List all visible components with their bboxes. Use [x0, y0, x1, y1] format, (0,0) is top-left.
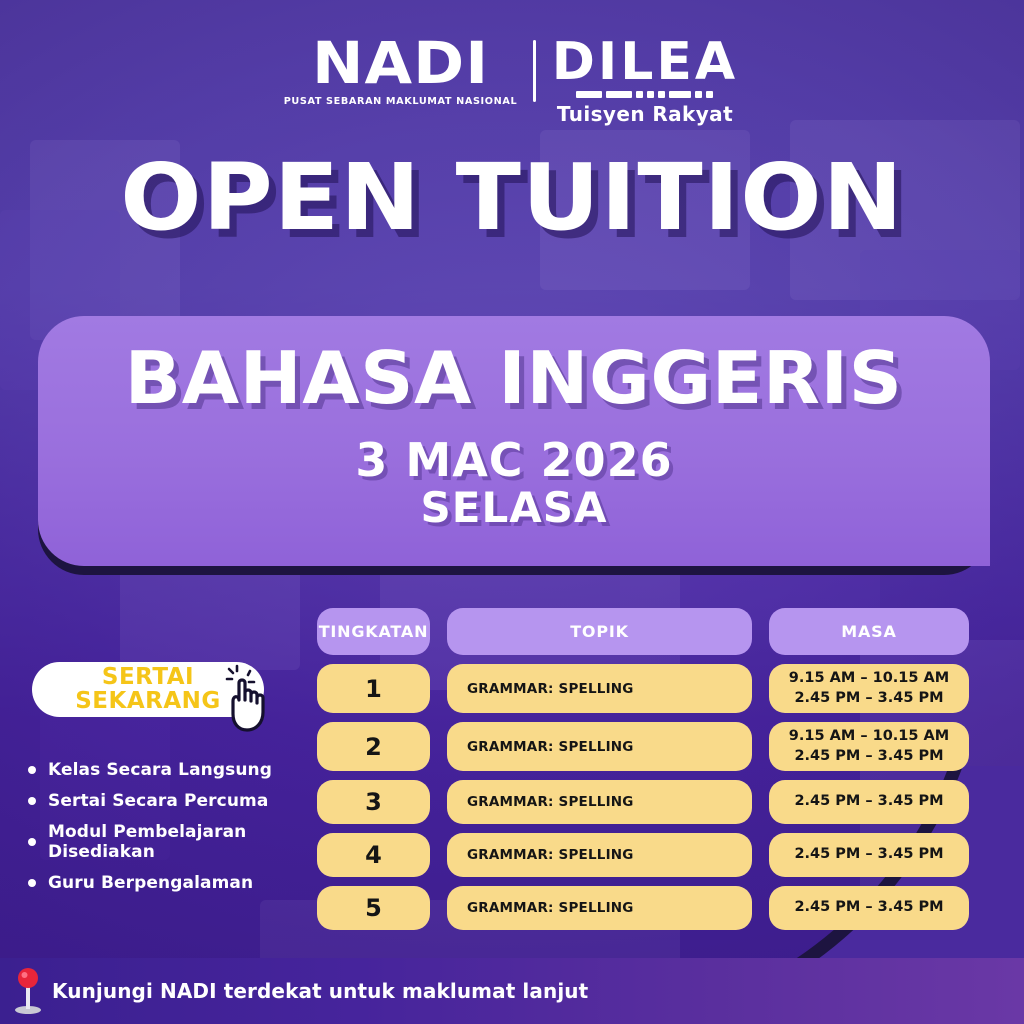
footer-bar: Kunjungi NADI terdekat untuk maklumat la…	[0, 958, 1024, 1024]
table-row: 2 GRAMMAR: SPELLING 9.15 AM – 10.15 AM 2…	[317, 722, 975, 771]
cell-topik: GRAMMAR: SPELLING	[447, 886, 752, 930]
poster-canvas: NADI PUSAT SEBARAN MAKLUMAT NASIONAL DIL…	[0, 0, 1024, 1024]
location-pin-icon	[8, 968, 48, 1014]
page-title: OPEN TUITION	[0, 152, 1024, 244]
bullet-dot-icon	[28, 766, 36, 774]
cell-masa: 9.15 AM – 10.15 AM 2.45 PM – 3.45 PM	[769, 664, 969, 713]
cell-masa-slot-1: 9.15 AM – 10.15 AM	[789, 669, 949, 689]
dilea-tagline: Tuisyen Rakyat	[557, 102, 733, 126]
join-now-line1: SERTAI	[75, 666, 221, 689]
features-list: Kelas Secara Langsung Sertai Secara Perc…	[28, 760, 348, 904]
bullet-dot-icon	[28, 838, 36, 846]
cell-masa: 2.45 PM – 3.45 PM	[769, 886, 969, 930]
cell-masa-slot-1: 2.45 PM – 3.45 PM	[794, 845, 943, 865]
cell-masa-slot-2: 2.45 PM – 3.45 PM	[794, 689, 943, 709]
list-item: Modul Pembelajaran Disediakan	[28, 822, 348, 862]
feature-label: Kelas Secara Langsung	[48, 760, 272, 780]
logo-divider	[533, 40, 536, 102]
session-day: SELASA	[421, 486, 608, 530]
logo-bar: NADI PUSAT SEBARAN MAKLUMAT NASIONAL DIL…	[0, 36, 1024, 126]
feature-label: Sertai Secara Percuma	[48, 791, 268, 811]
cell-tingkatan: 4	[317, 833, 430, 877]
cell-tingkatan: 5	[317, 886, 430, 930]
cell-masa-slot-1: 2.45 PM – 3.45 PM	[794, 898, 943, 918]
nadi-tagline: PUSAT SEBARAN MAKLUMAT NASIONAL	[284, 96, 518, 107]
cell-masa-slot-2: 2.45 PM – 3.45 PM	[794, 747, 943, 767]
session-date: 3 MAC 2026	[355, 436, 672, 484]
column-header-topik: TOPIK	[447, 608, 752, 655]
bullet-dot-icon	[28, 797, 36, 805]
cell-topik: GRAMMAR: SPELLING	[447, 722, 752, 771]
table-row: 4 GRAMMAR: SPELLING 2.45 PM – 3.45 PM	[317, 833, 975, 877]
footer-label: Kunjungi NADI terdekat untuk maklumat la…	[52, 979, 588, 1003]
list-item: Guru Berpengalaman	[28, 873, 348, 893]
nadi-wordmark: NADI	[312, 36, 489, 91]
cell-masa-slot-1: 2.45 PM – 3.45 PM	[794, 792, 943, 812]
subject-banner: BAHASA INGGERIS 3 MAC 2026 SELASA	[38, 316, 990, 566]
cell-topik: GRAMMAR: SPELLING	[447, 664, 752, 713]
cell-tingkatan: 1	[317, 664, 430, 713]
cell-topik: GRAMMAR: SPELLING	[447, 780, 752, 824]
subject-title: BAHASA INGGERIS	[125, 342, 903, 414]
table-row: 3 GRAMMAR: SPELLING 2.45 PM – 3.45 PM	[317, 780, 975, 824]
schedule-table: TINGKATAN TOPIK MASA 1 GRAMMAR: SPELLING…	[317, 608, 975, 939]
dilea-logo: DILEA Tuisyen Rakyat	[552, 36, 738, 126]
list-item: Sertai Secara Percuma	[28, 791, 348, 811]
table-row: 5 GRAMMAR: SPELLING 2.45 PM – 3.45 PM	[317, 886, 975, 930]
feature-label: Modul Pembelajaran Disediakan	[48, 822, 348, 862]
cell-masa: 2.45 PM – 3.45 PM	[769, 780, 969, 824]
feature-label: Guru Berpengalaman	[48, 873, 253, 893]
cell-masa: 2.45 PM – 3.45 PM	[769, 833, 969, 877]
list-item: Kelas Secara Langsung	[28, 760, 348, 780]
dilea-dash-accent-icon	[576, 91, 713, 98]
cell-topik: GRAMMAR: SPELLING	[447, 833, 752, 877]
click-hand-cursor-icon	[225, 660, 287, 735]
column-header-masa: MASA	[769, 608, 969, 655]
dilea-wordmark: DILEA	[552, 38, 738, 87]
nadi-logo: NADI PUSAT SEBARAN MAKLUMAT NASIONAL	[286, 36, 515, 107]
cell-tingkatan: 3	[317, 780, 430, 824]
cell-tingkatan: 2	[317, 722, 430, 771]
table-header-row: TINGKATAN TOPIK MASA	[317, 608, 975, 655]
cell-masa-slot-1: 9.15 AM – 10.15 AM	[789, 727, 949, 747]
join-now-label: SERTAI SEKARANG	[75, 666, 221, 713]
bullet-dot-icon	[28, 879, 36, 887]
cell-masa: 9.15 AM – 10.15 AM 2.45 PM – 3.45 PM	[769, 722, 969, 771]
table-row: 1 GRAMMAR: SPELLING 9.15 AM – 10.15 AM 2…	[317, 664, 975, 713]
join-now-line2: SEKARANG	[75, 690, 221, 713]
column-header-tingkatan: TINGKATAN	[317, 608, 430, 655]
